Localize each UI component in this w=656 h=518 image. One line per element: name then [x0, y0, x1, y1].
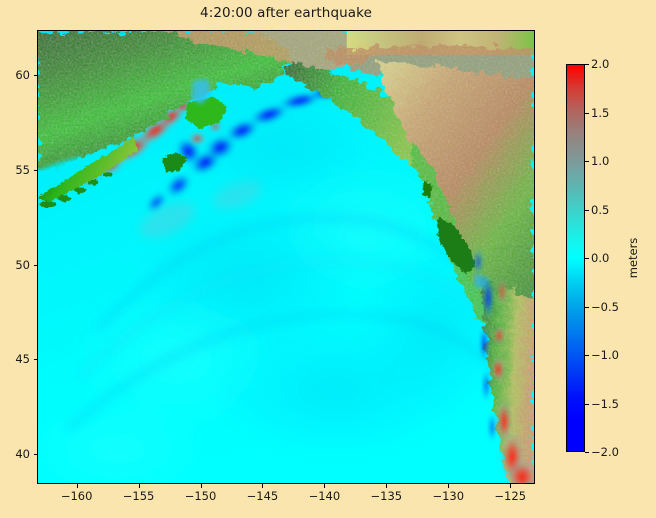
- y-tick-mark: [34, 75, 38, 76]
- y-tick-mark: [34, 359, 38, 360]
- y-tick-mark: [34, 170, 38, 171]
- x-tick-label: −140: [309, 489, 341, 503]
- y-tick-label: 40: [15, 447, 30, 461]
- colorbar-tick-mark: [585, 355, 589, 356]
- plot-title: 4:20:00 after earthquake: [37, 5, 535, 21]
- x-tick-label: −125: [494, 489, 526, 503]
- colorbar-tick-mark: [585, 161, 589, 162]
- colorbar-tick-label: −2.0: [591, 445, 619, 459]
- matplotlib-figure: 4:20:00 after earthquake: [0, 0, 656, 518]
- colorbar-tick-mark: [585, 113, 589, 114]
- tsunami-heatmap: [38, 31, 534, 483]
- colorbar[interactable]: [566, 64, 585, 452]
- x-tick-label: −155: [123, 489, 155, 503]
- colorbar-tick-label: 2.0: [591, 57, 609, 71]
- y-tick-mark: [34, 265, 38, 266]
- x-tick-mark: [386, 484, 387, 488]
- colorbar-tick-label: 1.0: [591, 154, 609, 168]
- x-tick-mark: [77, 484, 78, 488]
- colorbar-tick-mark: [585, 210, 589, 211]
- x-tick-label: −130: [432, 489, 464, 503]
- y-tick-label: 55: [15, 163, 30, 177]
- colorbar-tick-label: −1.5: [591, 397, 619, 411]
- colorbar-tick-mark: [585, 452, 589, 453]
- x-tick-label: −160: [61, 489, 93, 503]
- colorbar-tick-mark: [585, 404, 589, 405]
- x-tick-label: −145: [247, 489, 279, 503]
- colorbar-tick-label: 0.0: [591, 251, 609, 265]
- y-tick-mark: [34, 454, 38, 455]
- x-tick-mark: [448, 484, 449, 488]
- colorbar-tick-mark: [585, 64, 589, 65]
- map-axes[interactable]: [37, 30, 535, 484]
- x-tick-mark: [324, 484, 325, 488]
- y-tick-label: 60: [15, 68, 30, 82]
- colorbar-tick-label: −1.0: [591, 348, 619, 362]
- colorbar-tick-mark: [585, 307, 589, 308]
- x-tick-label: −135: [371, 489, 403, 503]
- colorbar-tick-label: 0.5: [591, 203, 609, 217]
- colorbar-tick-label: 1.5: [591, 106, 609, 120]
- y-tick-label: 50: [15, 258, 30, 272]
- x-tick-mark: [262, 484, 263, 488]
- x-tick-mark: [139, 484, 140, 488]
- colorbar-tick-mark: [585, 258, 589, 259]
- x-tick-mark: [510, 484, 511, 488]
- colorbar-tick-label: −0.5: [591, 300, 619, 314]
- y-tick-label: 45: [15, 352, 30, 366]
- colorbar-label: meters: [626, 238, 640, 279]
- x-tick-mark: [201, 484, 202, 488]
- x-tick-label: −150: [185, 489, 217, 503]
